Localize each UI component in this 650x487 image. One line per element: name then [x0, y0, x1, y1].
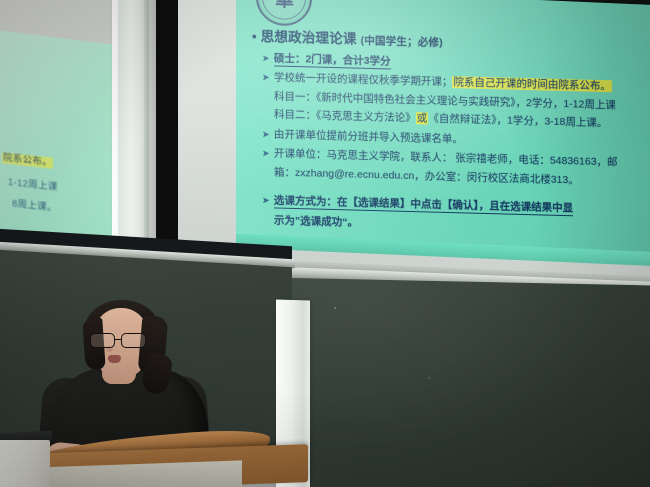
slide-bullet-7: ➤ 选课方式为：在【选课结果】中点击【确认】，且在选课结果中显	[262, 192, 573, 215]
slide-bullet-text-8: 示为”选课成功“。	[274, 214, 358, 228]
bullet-arrow-icon-0: ➤	[262, 53, 271, 64]
chalk-speck	[428, 377, 430, 379]
slide-bullet-text-0: 硕士：2门课，合计3学分	[274, 52, 391, 69]
seal-glyph: 華	[275, 0, 293, 11]
left-frag-2: 8周上课。	[12, 195, 57, 214]
slide-content: 華 • 思想政治理论课 (中国学生；必修) ➤ 硕士：2门课，合计3学分 ➤ 学…	[236, 0, 650, 252]
slide-bullet-1-highlight: 院系自己开课的时间由院系公布。	[452, 76, 612, 92]
slide-title: 思想政治理论课	[261, 29, 357, 47]
slide-bullet-text-4: 由开课单位提前分班并导入预选课名单。	[274, 128, 463, 145]
ecnu-seal-icon: 華	[256, 0, 312, 26]
slide-title-line: • 思想政治理论课 (中国学生；必修)	[252, 25, 443, 50]
bullet-arrow-icon-4: ➤	[262, 129, 271, 140]
slide-bullet-3-highlight: 或	[416, 112, 429, 124]
lens-left	[90, 333, 115, 348]
slide-bullet-text-7: 选课方式为：在【选课结果】中点击【确认】，且在选课结果中显	[274, 194, 573, 215]
slide-bullet-text-1: 学校统一开设的课程仅秋季学期开课；	[274, 71, 453, 88]
eyeglasses-icon	[90, 333, 152, 348]
slide-bullet-0: ➤ 硕士：2门课，合计3学分	[262, 50, 391, 68]
slide-bullet-8: 示为”选课成功“。	[274, 212, 358, 229]
slide-bullet-text-3a: 科目二：《马克思主义方法论》	[274, 108, 416, 124]
slide-title-note: (中国学生；必修)	[361, 35, 443, 49]
bullet-arrow-icon-1: ➤	[262, 72, 271, 83]
projected-slide: 華 • 思想政治理论课 (中国学生；必修) ➤ 硕士：2门课，合计3学分 ➤ 学…	[236, 0, 650, 255]
slide-bullet-text-6: 箱：zxzhang@re.ecnu.edu.cn，办公室：闵行校区法商北楼313…	[274, 166, 579, 186]
chalkboard-right	[288, 278, 650, 487]
slide-bullet-text-3b: 《自然辩证法》，1学分，3-18周上课。	[428, 112, 607, 129]
av-control-console[interactable]	[0, 440, 50, 487]
slide-bullet-4: ➤ 由开课单位提前分班并导入预选课名单。	[262, 126, 463, 146]
bullet-arrow-icon-5: ➤	[262, 148, 271, 159]
chalk-speck	[334, 307, 336, 309]
bullet-arrow-icon-7: ➤	[262, 195, 271, 206]
slide-bullet-6: 箱：zxzhang@re.ecnu.edu.cn，办公室：闵行校区法商北楼313…	[274, 164, 579, 187]
left-frag-1: 1-12周上课	[8, 174, 58, 193]
lens-right	[121, 333, 146, 348]
lecture-hall-scene: 院系公布。 1-12周上课 8周上课。 36163，邮 。 果结果中显 華 • …	[0, 0, 650, 487]
left-frag-0: 院系公布。	[2, 152, 53, 169]
presenter-mouth	[108, 355, 121, 363]
glasses-bridge	[115, 339, 121, 340]
